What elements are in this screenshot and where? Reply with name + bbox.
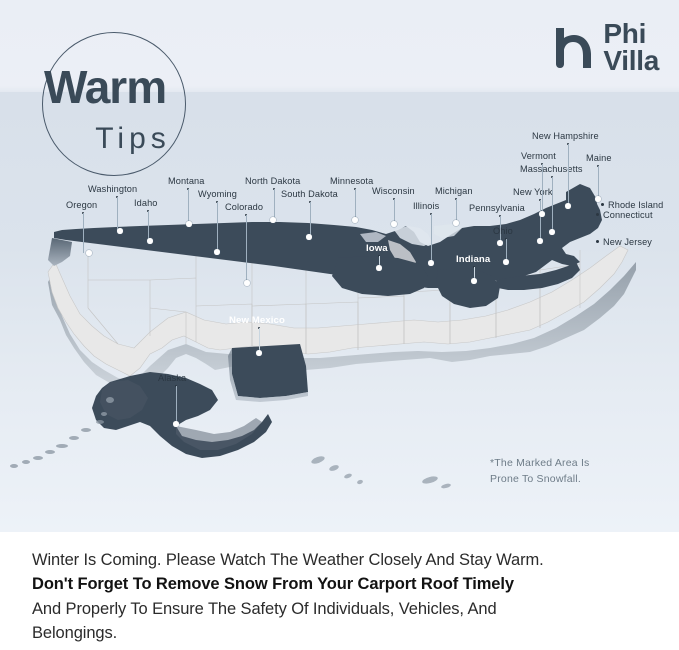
map-label-new-york: New York (513, 188, 553, 197)
map-endpoint-dot-pennsylvania (497, 240, 502, 245)
map-leader-line-new-york (540, 200, 541, 241)
pacific-islands (310, 455, 451, 489)
hero-panel: Warm Tips Phi Villa (0, 0, 679, 532)
map-leader-line-wyoming (217, 202, 218, 252)
map-endpoint-dot-oregon (86, 250, 91, 255)
map-endpoint-dot-maine (595, 196, 600, 201)
map-endpoint-dot-wyoming (214, 249, 219, 254)
map-label-new-mexico: New Mexico (229, 316, 285, 326)
map-endpoint-dot-new-mexico (256, 350, 261, 355)
map-leader-line-illinois (431, 214, 432, 263)
footnote-line-2: Prone To Snowfall. (490, 472, 650, 488)
map-label-idaho: Idaho (134, 199, 158, 208)
map-footnote: *The Marked Area Is Prone To Snowfall. (490, 456, 650, 488)
map-endpoint-dot-minnesota (352, 217, 357, 222)
map-endpoint-dot-vermont (539, 211, 544, 216)
logo-line-1: Phi (603, 21, 659, 48)
footnote-line-1: *The Marked Area Is (490, 456, 650, 472)
badge-title-warm: Warm (32, 64, 212, 110)
message-line-4: Belongings. (32, 621, 652, 645)
map-endpoint-dot-illinois (428, 260, 433, 265)
map-label-washington: Washington (88, 185, 137, 194)
map-label-south-dakota: South Dakota (281, 190, 338, 199)
map-label-wyoming: Wyoming (198, 190, 237, 199)
map-leader-line-oregon (83, 213, 84, 253)
map-label-connecticut: Connecticut (603, 211, 653, 220)
map-leader-line-montana (188, 189, 189, 224)
promo-graphic: Warm Tips Phi Villa (0, 0, 679, 650)
map-label-michigan: Michigan (435, 187, 473, 196)
map-endpoint-dot-new-york (537, 238, 542, 243)
map-endpoint-dot-massachusetts (549, 229, 554, 234)
map-label-wisconsin: Wisconsin (372, 187, 415, 196)
map-endpoint-dot-ohio (503, 259, 508, 264)
map-label-indiana: Indiana (456, 255, 490, 265)
map-endpoint-dot-new-hampshire (565, 203, 570, 208)
map-leader-line-south-dakota (310, 202, 311, 237)
map-leader-line-north-dakota (274, 189, 275, 220)
map-endpoint-dot-washington (117, 228, 122, 233)
message-line-1: Winter Is Coming. Please Watch The Weath… (32, 548, 652, 572)
map-label-ohio: Ohio (493, 227, 513, 236)
alaska-region (10, 372, 451, 489)
map-leader-line-washington (117, 197, 118, 231)
map-leader-line-new-hampshire (568, 144, 569, 206)
map-endpoint-dot-colorado (244, 280, 249, 285)
logo-wordmark: Phi Villa (603, 21, 659, 75)
map-label-new-jersey: New Jersey (603, 238, 652, 247)
map-leader-line-maine (598, 166, 599, 199)
phi-villa-h-mark-icon (548, 24, 594, 72)
map-label-pennsylvania: Pennsylvania (469, 204, 525, 213)
map-leader-line-minnesota (355, 189, 356, 220)
map-endpoint-dot-montana (186, 221, 191, 226)
map-label-iowa: Iowa (366, 244, 388, 254)
map-leader-line-new-mexico (259, 328, 260, 353)
bottom-message: Winter Is Coming. Please Watch The Weath… (32, 548, 652, 645)
map-label-north-dakota: North Dakota (245, 177, 300, 186)
map-label-minnesota: Minnesota (330, 177, 373, 186)
brand-logo: Phi Villa (548, 18, 659, 78)
map-label-new-hampshire: New Hampshire (532, 132, 599, 141)
bottom-message-panel: Winter Is Coming. Please Watch The Weath… (0, 532, 679, 650)
map-label-illinois: Illinois (413, 202, 439, 211)
map-leader-line-vermont (542, 164, 543, 214)
map-label-montana: Montana (168, 177, 204, 186)
message-line-3: And Properly To Ensure The Safety Of Ind… (32, 597, 652, 621)
map-leader-line-idaho (148, 211, 149, 241)
map-label-massachusetts: Massachusetts (520, 165, 583, 174)
map-endpoint-dot-alaska (173, 421, 178, 426)
map-endpoint-dot-indiana (471, 278, 476, 283)
map-label-vermont: Vermont (521, 152, 556, 161)
map-label-oregon: Oregon (66, 201, 97, 210)
map-endpoint-dot-south-dakota (306, 234, 311, 239)
map-endpoint-dot-iowa (376, 265, 381, 270)
map-label-alaska: Alaska (158, 374, 186, 383)
message-line-2-bold: Don't Forget To Remove Snow From Your Ca… (32, 572, 652, 596)
map-leader-line-alaska (176, 386, 177, 424)
logo-line-2: Villa (603, 48, 659, 75)
map-leader-line-colorado (246, 215, 247, 283)
map-label-colorado: Colorado (225, 203, 263, 212)
map-endpoint-dot-north-dakota (270, 217, 275, 222)
map-endpoint-dot-michigan (453, 220, 458, 225)
map-label-rhode-island: Rhode Island (608, 201, 663, 210)
map-endpoint-dot-wisconsin (391, 221, 396, 226)
map-leader-line-massachusetts (552, 177, 553, 232)
map-endpoint-dot-idaho (147, 238, 152, 243)
aleutian-islands (10, 420, 104, 468)
map-label-maine: Maine (586, 154, 612, 163)
map-leader-line-wisconsin (394, 199, 395, 224)
